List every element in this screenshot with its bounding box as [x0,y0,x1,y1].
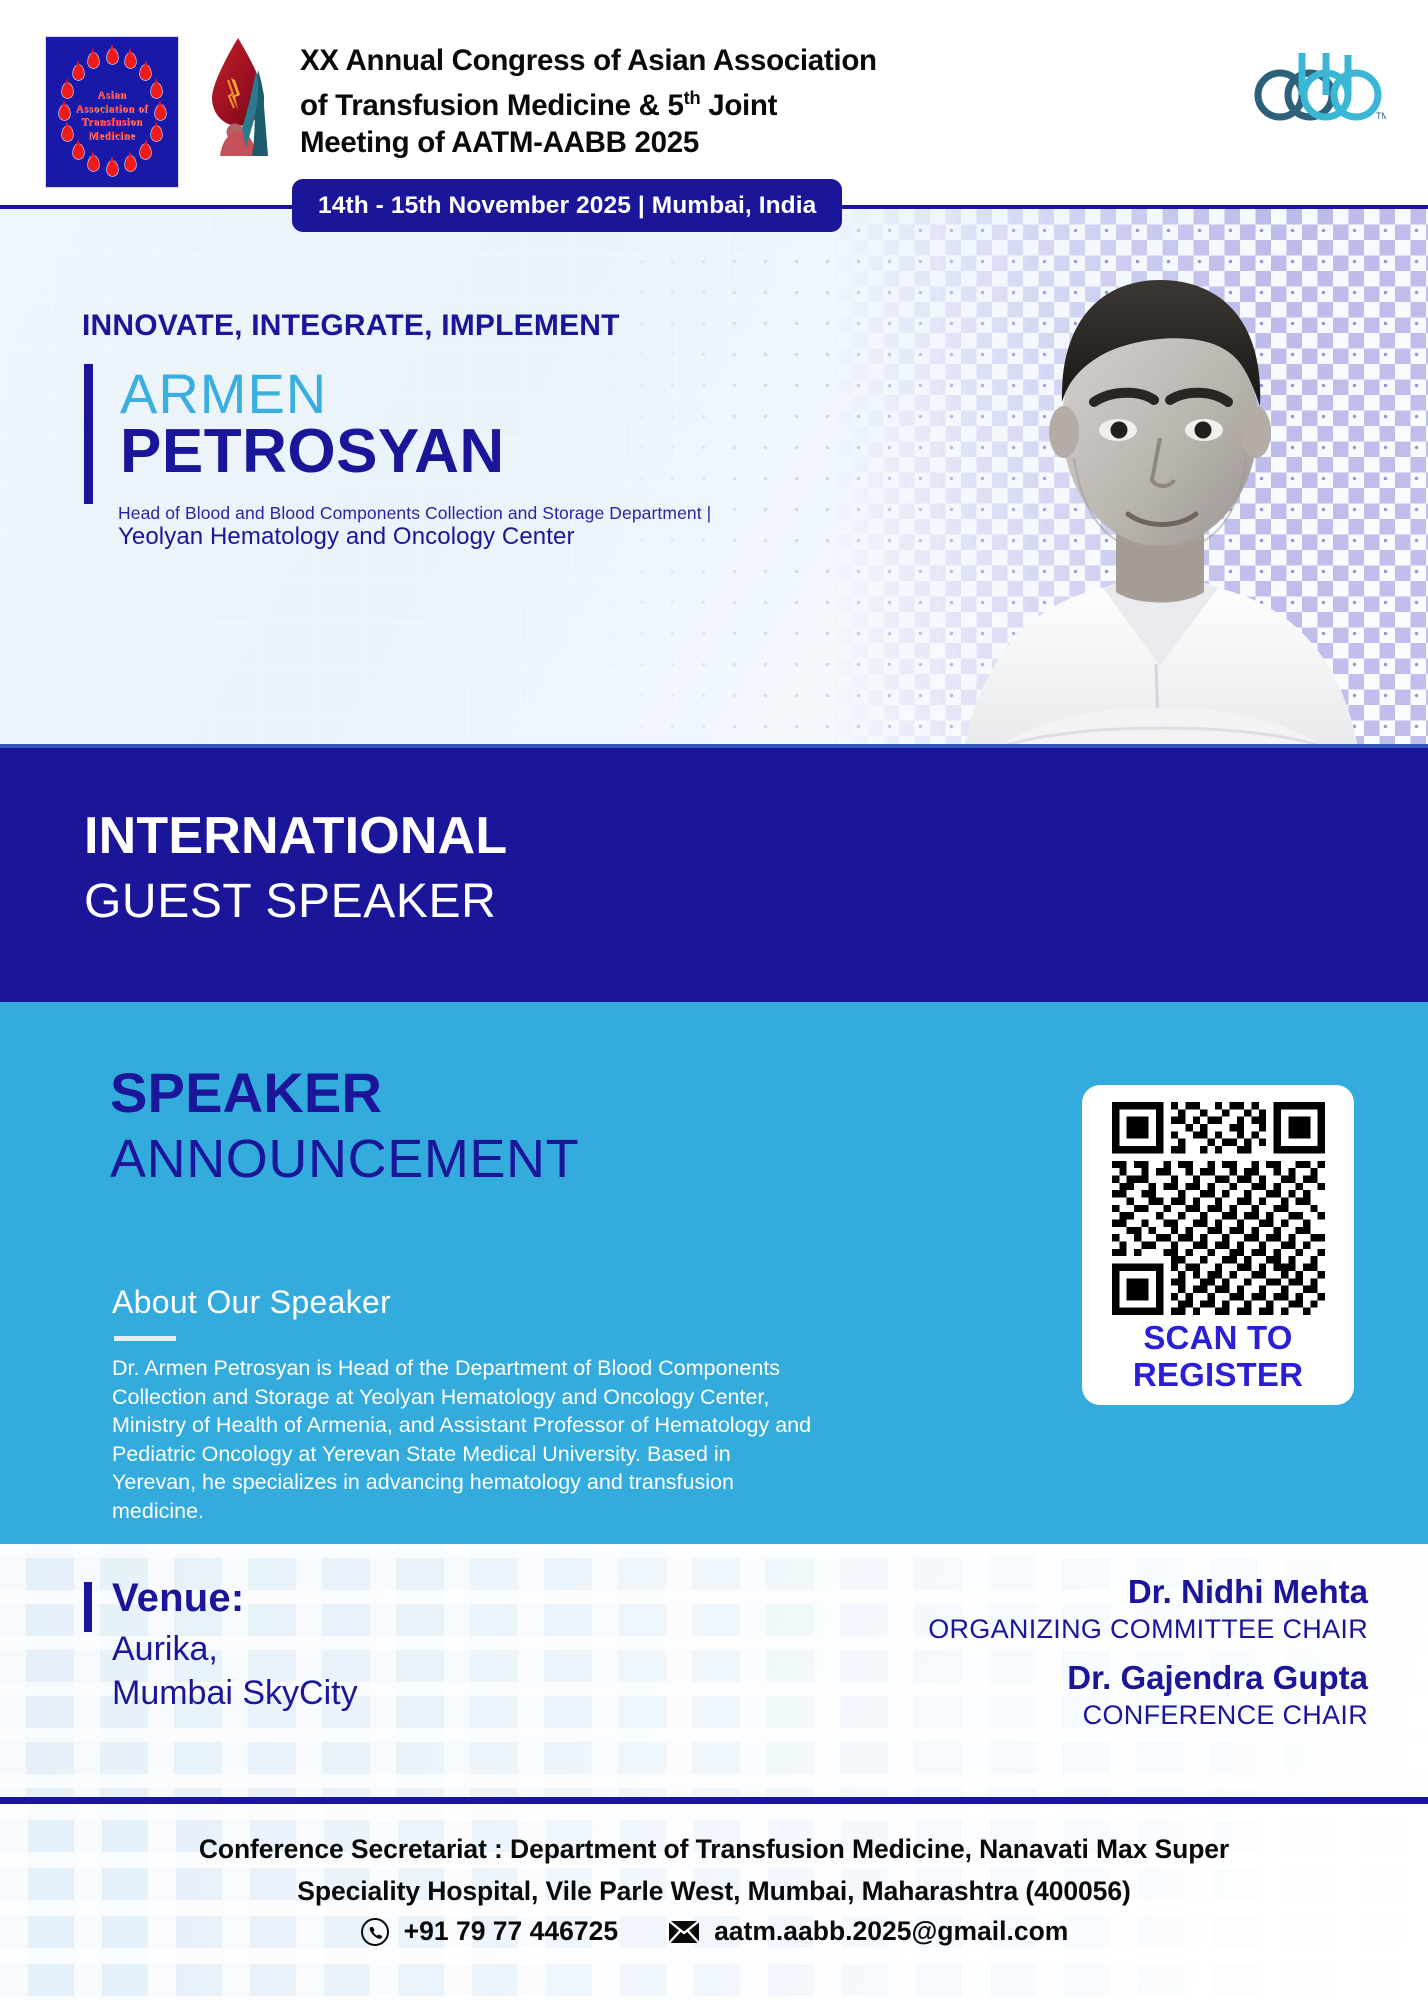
blood-drop-icon [151,83,162,98]
blood-drop-icon [73,65,84,80]
footer-contact-row: +91 79 77 446725 aatm.aabb.2025@gmail.co… [0,1912,1428,1947]
venue-and-chairs-section: Venue: Aurika, Mumbai SkyCity Dr. Nidhi … [0,1544,1428,1797]
international-guest-speaker-band: INTERNATIONAL GUEST SPEAKER [0,744,1428,1002]
blood-drop-icon [107,161,118,176]
qr-label-line1: SCAN TO [1143,1319,1292,1356]
congress-title: XX Annual Congress of Asian Association … [300,42,930,161]
guest-band-top-rule [0,744,1428,748]
chair-role-0: ORGANIZING COMMITTEE CHAIR [928,1612,1368,1646]
blood-drop-icon [140,144,151,159]
blood-drop-icon [151,126,162,141]
speaker-last-name: PETROSYAN [120,416,505,487]
congress-title-line2b: Joint [700,89,777,122]
footer-email[interactable]: aatm.aabb.2025@gmail.com [714,1916,1068,1947]
chair-spacer [928,1646,1368,1658]
blood-drop-icon [59,105,70,120]
announcement-title-line1: SPEAKER [110,1060,382,1125]
footer-divider-rule [0,1797,1428,1804]
congress-title-line2a: of Transfusion Medicine & 5 [300,89,684,122]
chair-name-1: Dr. Gajendra Gupta [928,1658,1368,1698]
venue-label: Venue: [112,1576,244,1621]
speaker-portrait [888,209,1428,744]
blood-drop-icon [140,65,151,80]
congress-title-line1: XX Annual Congress of Asian Association [300,44,877,77]
about-speaker-body: Dr. Armen Petrosyan is Head of the Depar… [112,1354,812,1525]
speaker-role-line1: Head of Blood and Blood Components Colle… [118,503,711,524]
congress-title-ordinal: th [684,87,701,108]
svg-text:TM: TM [1376,111,1386,121]
announcement-title-line2: ANNOUNCEMENT [110,1128,579,1190]
blood-drop-icon [107,49,118,64]
email-icon [668,1920,700,1944]
blood-drop-icon [155,105,166,120]
chair-name-0: Dr. Nidhi Mehta [928,1572,1368,1612]
speaker-announcement-poster: AsianAssociation ofTransfusionMedicine [0,0,1428,2000]
guest-band-line1: INTERNATIONAL [84,806,507,866]
congress-title-line3: Meeting of AATM-AABB 2025 [300,126,699,159]
blood-drop-icon [73,144,84,159]
poster-header: AsianAssociation ofTransfusionMedicine [0,0,1428,205]
qr-register-card[interactable]: SCAN TO REGISTER [1082,1085,1354,1405]
blood-drop-icon [125,53,136,68]
footer-phone[interactable]: +91 79 77 446725 [404,1916,618,1947]
qr-register-label: SCAN TO REGISTER [1133,1319,1303,1393]
blood-drop-icon [62,83,73,98]
hero-section: INNOVATE, INTEGRATE, IMPLEMENT ARMEN PET… [0,209,1428,744]
blood-drop-icon [125,156,136,171]
venue-accent-bar [84,1582,92,1632]
about-speaker-underline [114,1336,176,1341]
date-location-banner: 14th - 15th November 2025 | Mumbai, Indi… [292,179,842,232]
blood-drop-logo-icon [198,36,290,156]
aatm-logo: AsianAssociation ofTransfusionMedicine [45,36,179,188]
guest-band-line2: GUEST SPEAKER [84,874,496,929]
speaker-name-accent-bar [84,364,93,504]
aabb-logo: TM [1252,45,1386,123]
blood-drop-icon [88,53,99,68]
venue-line2: Mumbai SkyCity [112,1674,358,1713]
chair-role-1: CONFERENCE CHAIR [928,1698,1368,1732]
footer-secretariat-line2: Speciality Hospital, Vile Parle West, Mu… [0,1870,1428,1912]
speaker-role-line2: Yeolyan Hematology and Oncology Center [118,523,575,551]
venue-line1: Aurika, [112,1630,218,1669]
poster-footer: Conference Secretariat : Department of T… [0,1804,1428,2000]
about-speaker-heading: About Our Speaker [112,1284,391,1321]
chairs-block: Dr. Nidhi Mehta ORGANIZING COMMITTEE CHA… [928,1572,1368,1732]
footer-secretariat-line1: Conference Secretariat : Department of T… [0,1804,1428,1870]
blood-drop-icon [62,126,73,141]
blood-drop-icon [88,156,99,171]
conference-tagline: INNOVATE, INTEGRATE, IMPLEMENT [82,309,620,343]
qr-label-line2: REGISTER [1133,1356,1303,1393]
whatsapp-icon [360,1917,390,1947]
qr-code-image[interactable] [1112,1102,1325,1315]
